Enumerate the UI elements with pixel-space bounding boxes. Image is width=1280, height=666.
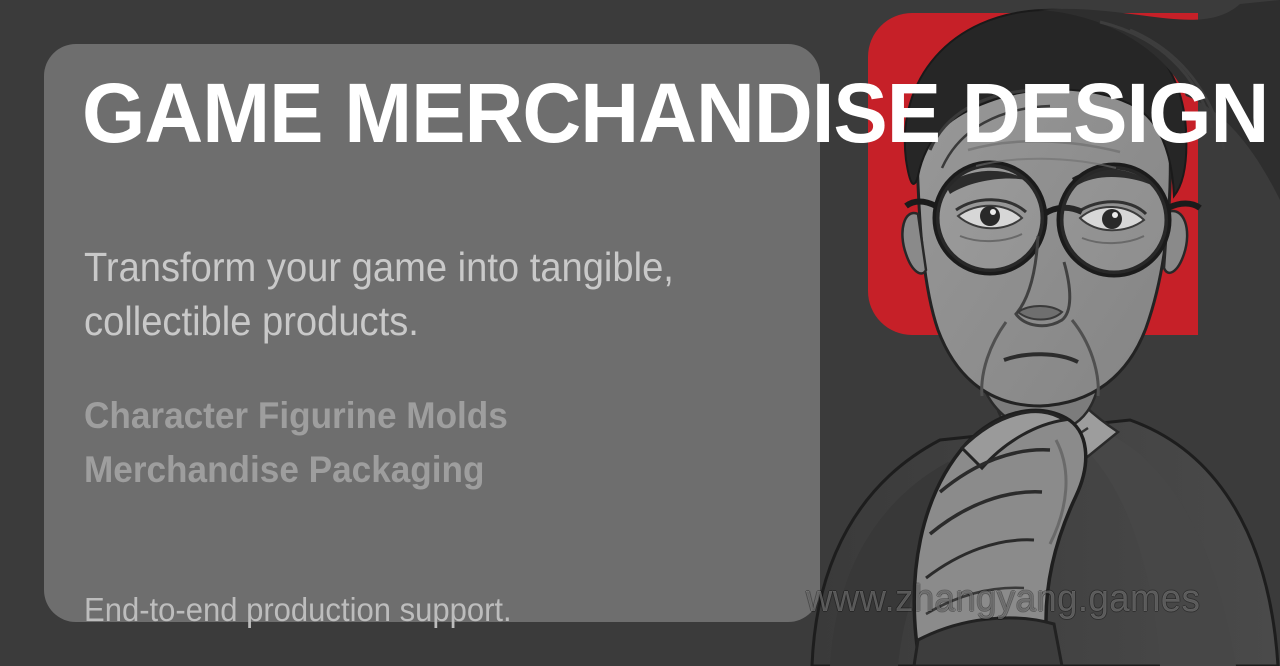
page-title: GAME MERCHANDISE DESIGN [82, 71, 1268, 155]
feature-list: Character Figurine Molds Merchandise Pac… [84, 389, 530, 496]
promo-banner: GAME MERCHANDISE DESIGN Transform your g… [0, 0, 1280, 666]
list-item: Character Figurine Molds [84, 389, 508, 443]
footnote-text: End-to-end production support. [84, 591, 512, 629]
subtitle-text: Transform your game into tangible, colle… [84, 240, 735, 348]
watermark-url: www.zhangyang.games [806, 578, 1200, 621]
list-item: Merchandise Packaging [84, 443, 508, 497]
